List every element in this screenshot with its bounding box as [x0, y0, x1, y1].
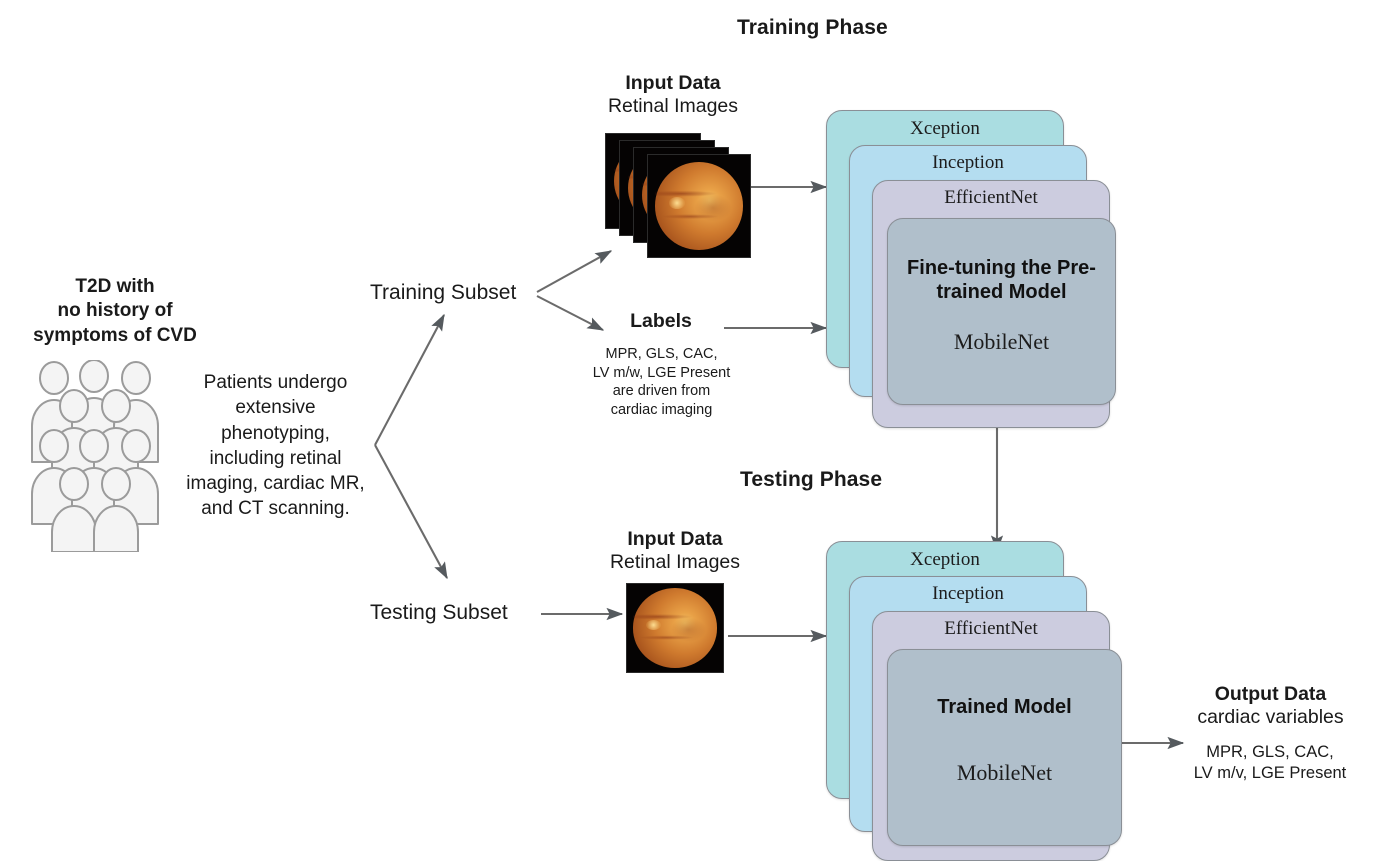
labels-line-1: MPR, GLS, CAC, [590, 345, 733, 364]
diagram-canvas: Training Phase Testing Phase T2D with no… [0, 0, 1378, 856]
training-model-stack: Xception Inception EfficientNet Fine-tun… [826, 110, 1126, 410]
output-line-2: LV m/v, LGE Present [1166, 763, 1374, 784]
training-card-mobilenet-title: Fine-tuning the Pre- trained Model [906, 256, 1097, 304]
cohort-desc-line-1: Patients undergo [178, 370, 373, 395]
labels-line-3: are driven from [590, 382, 733, 401]
retinal-image-test [626, 583, 724, 673]
training-card-mobilenet[interactable]: Fine-tuning the Pre- trained Model Mobil… [887, 218, 1116, 405]
labels-line-4: cardiac imaging [590, 401, 733, 420]
labels-line-2: LV m/w, LGE Present [590, 364, 733, 383]
arrow-cohort-to-training [375, 315, 444, 445]
testing-card-mobilenet-subtitle: MobileNet [888, 760, 1121, 786]
testing-card-mobilenet[interactable]: Trained Model MobileNet [887, 649, 1122, 846]
labels-title: Labels [596, 310, 726, 333]
testing-input-header: Input Data Retinal Images [582, 528, 768, 574]
training-card-xception-label: Xception [827, 118, 1063, 140]
people-row-middle-lower [32, 430, 158, 524]
training-labels-list: MPR, GLS, CAC, LV m/w, LGE Present are d… [590, 345, 733, 419]
output-line-1: MPR, GLS, CAC, [1166, 742, 1374, 763]
training-card-efficientnet-label: EfficientNet [873, 187, 1109, 209]
testing-card-mobilenet-title: Trained Model [907, 695, 1103, 719]
testing-input-subtitle: Retinal Images [582, 551, 768, 574]
cohort-title-line-3: symptoms of CVD [10, 324, 220, 348]
training-input-title: Input Data [580, 72, 766, 95]
cohort-title-line-2: no history of [10, 299, 220, 323]
training-subset-label: Training Subset [370, 281, 516, 305]
training-card-inception-label: Inception [850, 152, 1086, 174]
arrow-cohort-to-testing [375, 445, 447, 578]
cohort-desc-line-4: including retinal [178, 446, 373, 471]
training-input-subtitle: Retinal Images [580, 95, 766, 118]
cohort-desc-line-6: and CT scanning. [178, 496, 373, 521]
cohort-desc-line-2: extensive [178, 395, 373, 420]
testing-phase-title: Testing Phase [740, 468, 882, 492]
cohort-desc-line-3: phenotyping, [178, 421, 373, 446]
training-model-title-line-2: trained Model [936, 281, 1066, 303]
testing-card-xception-label: Xception [827, 549, 1063, 571]
cohort-desc-line-5: imaging, cardiac MR, [178, 471, 373, 496]
training-labels-title: Labels [596, 310, 726, 333]
training-card-mobilenet-subtitle: MobileNet [888, 329, 1115, 355]
training-retinal-image-stack [605, 133, 755, 258]
cohort-title: T2D with no history of symptoms of CVD [10, 275, 220, 348]
testing-subset-label: Testing Subset [370, 601, 508, 625]
arrow-training-to-labels [537, 296, 603, 330]
output-subtitle: cardiac variables [1168, 706, 1373, 729]
retinal-image-1 [647, 154, 751, 258]
output-title: Output Data [1168, 683, 1373, 706]
output-variable-list: MPR, GLS, CAC, LV m/v, LGE Present [1166, 742, 1374, 785]
cohort-title-line-1: T2D with [10, 275, 220, 299]
testing-input-title: Input Data [582, 528, 768, 551]
testing-card-efficientnet-label: EfficientNet [873, 618, 1109, 640]
training-input-header: Input Data Retinal Images [580, 72, 766, 118]
cohort-description: Patients undergo extensive phenotyping, … [178, 370, 373, 522]
testing-retinal-image [626, 583, 728, 675]
training-model-title-line-1: Fine-tuning the Pre- [907, 257, 1096, 279]
people-group-icon [28, 360, 168, 552]
arrow-training-to-input [537, 251, 611, 292]
testing-model-stack: Xception Inception EfficientNet Trained … [826, 541, 1126, 851]
testing-card-inception-label: Inception [850, 583, 1086, 605]
training-phase-title: Training Phase [737, 16, 888, 40]
output-header: Output Data cardiac variables [1168, 683, 1373, 729]
